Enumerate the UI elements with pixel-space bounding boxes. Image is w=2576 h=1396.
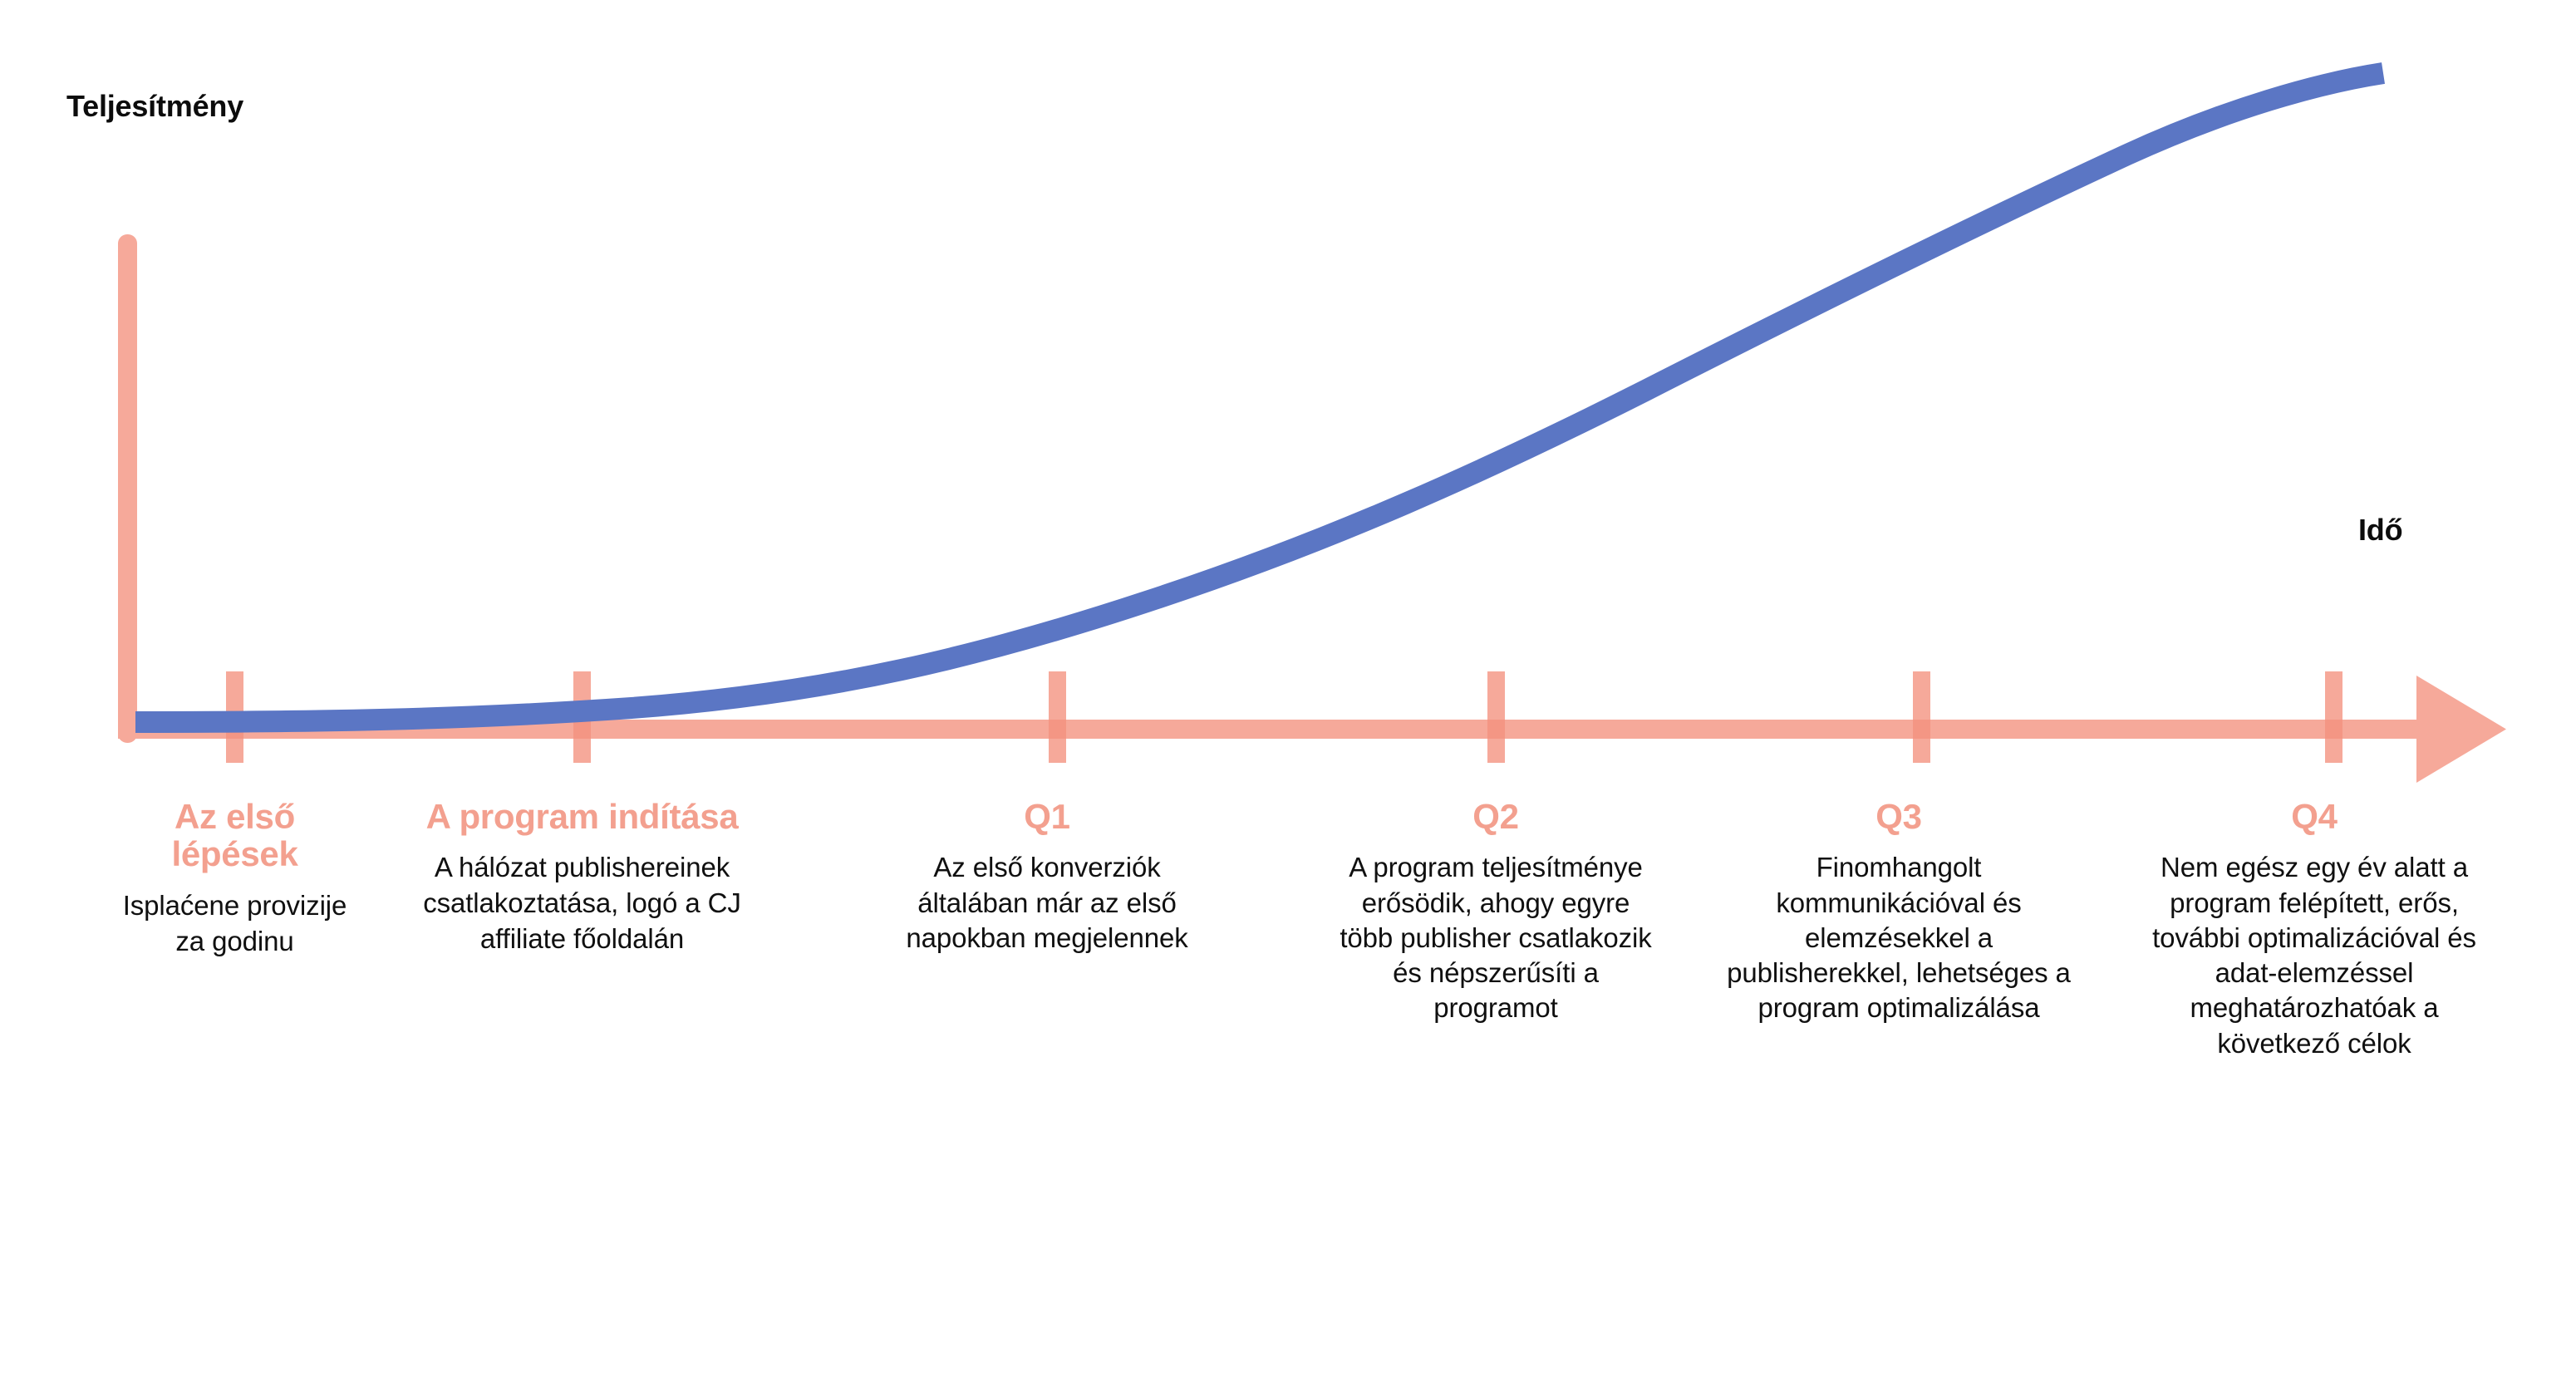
- milestone-title: Az első lépések: [116, 798, 353, 873]
- y-axis-line: [118, 234, 137, 743]
- milestone-3: Q2 A program teljesítménye erősödik, aho…: [1334, 798, 1658, 1026]
- tick-mark: [2325, 671, 2342, 763]
- tick-mark: [1487, 671, 1505, 763]
- tick-mark: [1913, 671, 1930, 763]
- x-axis-arrow-icon: [2416, 676, 2506, 783]
- milestone-title: Q4: [2136, 798, 2493, 835]
- milestone-description: Isplaćene provizije za godinu: [116, 888, 353, 960]
- growth-curve: [135, 73, 2383, 722]
- milestone-title: Q1: [881, 798, 1213, 835]
- milestone-2: Q1 Az első konverziók általában már az e…: [881, 798, 1213, 956]
- tick-mark: [1049, 671, 1066, 763]
- milestone-description: A hálózat publishereinek csatlakoztatása…: [422, 850, 742, 957]
- milestone-description: Az első konverziók általában már az első…: [881, 850, 1213, 956]
- milestone-description: A program teljesítménye erősödik, ahogy …: [1334, 850, 1658, 1025]
- milestone-description: Nem egész egy év alatt a program felépít…: [2136, 850, 2493, 1060]
- milestone-title: Q3: [1720, 798, 2077, 835]
- milestone-description: Finomhangolt kommunikációval és elemzése…: [1720, 850, 2077, 1025]
- milestone-0: Az első lépések Isplaćene provizije za g…: [116, 798, 353, 960]
- milestone-4: Q3 Finomhangolt kommunikációval és elemz…: [1720, 798, 2077, 1026]
- milestone-1: A program indítása A hálózat publisherei…: [422, 798, 742, 957]
- timeline-infographic: Teljesítmény Idő Az első lépések Isplaće…: [0, 0, 2576, 1396]
- milestone-list: Az első lépések Isplaćene provizije za g…: [0, 798, 2576, 1396]
- milestone-title: Q2: [1334, 798, 1658, 835]
- milestone-5: Q4 Nem egész egy év alatt a program felé…: [2136, 798, 2493, 1061]
- milestone-title: A program indítása: [422, 798, 742, 835]
